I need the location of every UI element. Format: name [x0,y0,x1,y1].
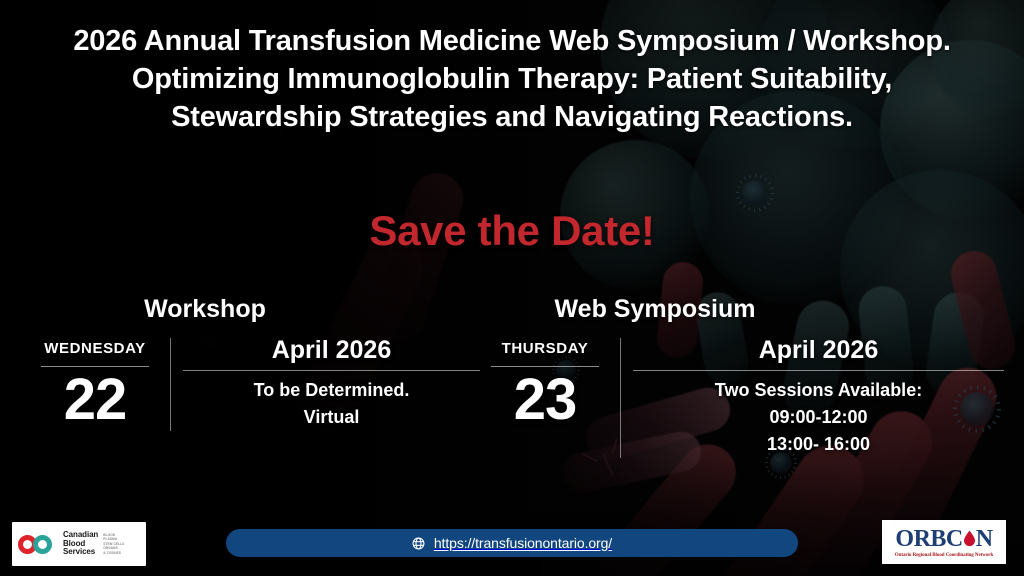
orbcon-word-part-2: N [976,526,993,552]
day-column-workshop: WEDNESDAY 22 [20,336,170,431]
detail-column-workshop: April 2026 To be Determined. Virtual [171,336,480,431]
loop-teal [33,535,52,554]
detail-line-symposium-2: 09:00-12:00 [633,404,1004,431]
website-url-button[interactable]: https://transfusionontario.org/ [226,529,798,557]
cbs-wordmark-line-3: Services [63,548,98,557]
detail-rule [183,370,480,371]
globe-icon [412,537,425,550]
day-number-symposium: 23 [470,369,620,431]
detail-line-symposium-3: 13:00- 16:00 [633,431,1004,458]
orbcon-wordmark: ORBC N [895,526,992,552]
month-label-workshop: April 2026 [183,336,480,364]
save-the-date-heading: Save the Date! [0,205,1024,257]
orbcon-word-part-1: ORBC [895,526,962,552]
headline-line-2: Optimizing Immunoglobulin Therapy: Patie… [0,60,1024,98]
headline-block: 2026 Annual Transfusion Medicine Web Sym… [0,22,1024,136]
detail-rule [633,370,1004,371]
weekday-label-workshop: WEDNESDAY [20,340,170,358]
event-block-workshop: Workshop WEDNESDAY 22 April 2026 To be D… [20,294,480,431]
detail-column-symposium: April 2026 Two Sessions Available: 09:00… [621,336,1004,458]
weekday-label-symposium: THURSDAY [470,340,620,358]
day-column-symposium: THURSDAY 23 [470,336,620,431]
infinity-loop-icon [18,533,58,555]
month-label-symposium: April 2026 [633,336,1004,364]
day-number-workshop: 22 [20,369,170,431]
event-body-workshop: WEDNESDAY 22 April 2026 To be Determined… [20,336,480,431]
event-title-symposium: Web Symposium [470,294,840,324]
headline-line-3: Stewardship Strategies and Navigating Re… [0,98,1024,136]
blood-drop-icon [963,530,976,547]
event-block-symposium: Web Symposium THURSDAY 23 April 2026 Two… [470,294,1004,458]
cbs-tagline-line-5: & TISSUES [103,551,124,555]
orbcon-subtitle: Ontario Regional Blood Coordinating Netw… [895,552,993,559]
poster-content: 2026 Annual Transfusion Medicine Web Sym… [0,0,1024,576]
cbs-tagline: BLOOD PLASMA STEM CELLS ORGANS & TISSUES [103,533,124,555]
event-body-symposium: THURSDAY 23 April 2026 Two Sessions Avai… [470,336,1004,458]
canadian-blood-services-logo: Canadian Blood Services BLOOD PLASMA STE… [12,522,146,566]
save-the-date-poster: 2026 Annual Transfusion Medicine Web Sym… [0,0,1024,576]
footer-bar: Canadian Blood Services BLOOD PLASMA STE… [0,514,1024,576]
detail-line-workshop-1: To be Determined. [183,377,480,404]
orbcon-logo: ORBC N Ontario Regional Blood Coordinati… [882,520,1006,564]
event-title-workshop: Workshop [20,294,390,324]
detail-line-workshop-2: Virtual [183,404,480,431]
detail-line-symposium-1: Two Sessions Available: [633,377,1004,404]
headline-line-1: 2026 Annual Transfusion Medicine Web Sym… [0,22,1024,60]
cbs-wordmark: Canadian Blood Services [63,531,98,557]
website-url-text: https://transfusionontario.org/ [434,535,612,551]
